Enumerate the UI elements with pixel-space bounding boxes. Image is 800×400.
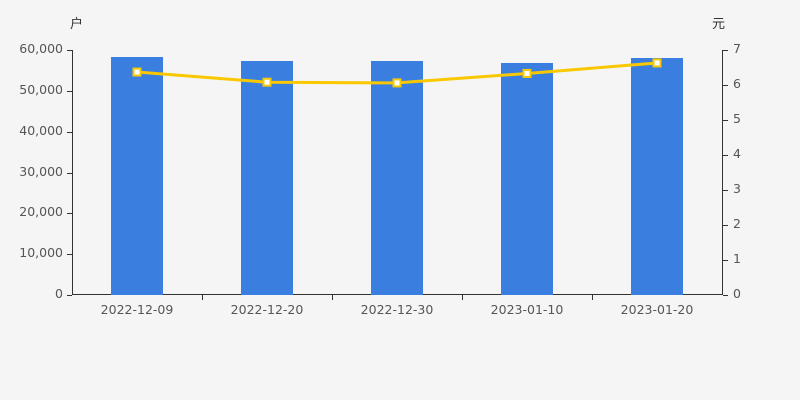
right-tick-label: 5 [733,113,741,126]
x-tick-label: 2022-12-09 [101,304,174,317]
right-tick-mark [723,225,728,226]
right-y-axis-line [722,50,723,295]
left-tick-label: 20,000 [19,206,63,219]
right-tick-label: 7 [733,43,741,56]
x-tick-label: 2023-01-20 [621,304,694,317]
chart-container: 户 元 010,00020,00030,00040,00050,00060,00… [0,0,800,400]
right-tick-label: 4 [733,148,741,161]
x-tick-label: 2022-12-20 [231,304,304,317]
left-tick-mark [67,91,72,92]
left-tick-mark [67,254,72,255]
right-tick-label: 3 [733,183,741,196]
bar [111,57,163,295]
x-tick-label: 2023-01-10 [491,304,564,317]
right-tick-label: 0 [733,288,741,301]
left-tick-label: 50,000 [19,84,63,97]
left-tick-label: 10,000 [19,247,63,260]
left-tick-label: 60,000 [19,43,63,56]
right-tick-mark [723,295,728,296]
right-tick-mark [723,260,728,261]
x-tick-mark [332,295,333,300]
bar [631,58,683,295]
left-y-axis-line [72,50,73,295]
x-tick-mark [592,295,593,300]
left-tick-mark [67,173,72,174]
bar [241,61,293,295]
right-tick-mark [723,190,728,191]
right-tick-label: 1 [733,253,741,266]
bar [501,63,553,295]
left-tick-label: 0 [55,288,63,301]
x-tick-label: 2022-12-30 [361,304,434,317]
right-tick-mark [723,120,728,121]
right-tick-label: 6 [733,78,741,91]
left-tick-label: 30,000 [19,166,63,179]
right-tick-mark [723,155,728,156]
left-tick-mark [67,132,72,133]
left-tick-mark [67,295,72,296]
x-tick-mark [202,295,203,300]
left-tick-mark [67,50,72,51]
left-tick-label: 40,000 [19,125,63,138]
bar [371,61,423,295]
left-tick-mark [67,213,72,214]
left-axis-unit-label: 户 [70,18,83,31]
x-tick-mark [462,295,463,300]
right-tick-mark [723,50,728,51]
right-axis-unit-label: 元 [712,18,725,31]
right-tick-mark [723,85,728,86]
right-tick-label: 2 [733,218,741,231]
